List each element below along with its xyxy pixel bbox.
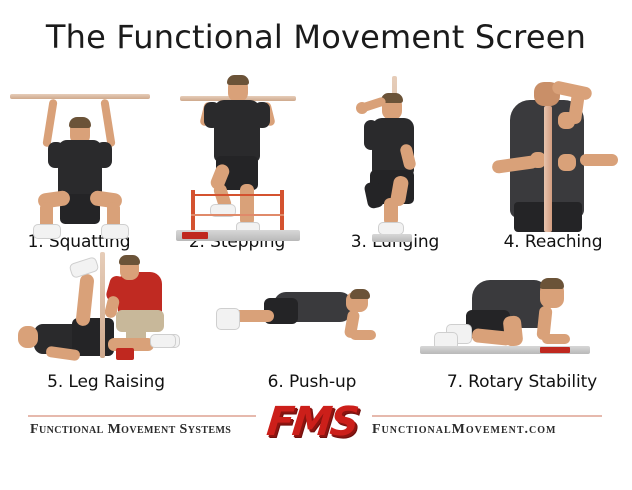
screens-row-bottom: 5. Leg Raising 6. Push-up bbox=[0, 252, 632, 392]
screen-label: 5. Leg Raising bbox=[47, 372, 165, 392]
rotary-stability-photo bbox=[412, 252, 632, 370]
footer-website[interactable]: FunctionalMovement.com bbox=[372, 422, 557, 438]
screen-item-rotary-stability: 7. Rotary Stability bbox=[412, 252, 632, 392]
active-straight-leg-raise-photo bbox=[0, 252, 212, 370]
trunk-stability-pushup-photo bbox=[212, 252, 412, 370]
screen-label: 6. Push-up bbox=[268, 372, 357, 392]
deep-squat-photo bbox=[0, 72, 158, 230]
screen-label: 4. Reaching bbox=[504, 232, 603, 252]
screen-item-lunging: 3. Lunging bbox=[316, 72, 474, 252]
shoulder-mobility-photo bbox=[474, 72, 632, 230]
inline-lunge-photo bbox=[316, 72, 474, 230]
screen-item-squatting: 1. Squatting bbox=[0, 72, 158, 252]
page-title: The Functional Movement Screen bbox=[0, 18, 632, 56]
screens-row-top: 1. Squatting bbox=[0, 72, 632, 252]
footer-company-name: Functional Movement Systems bbox=[30, 422, 231, 438]
screen-item-leg-raising: 5. Leg Raising bbox=[0, 252, 212, 392]
screen-item-reaching: 4. Reaching bbox=[474, 72, 632, 252]
hurdle-step-photo bbox=[158, 72, 316, 230]
screen-item-pushup: 6. Push-up bbox=[212, 252, 412, 392]
screen-label: 7. Rotary Stability bbox=[447, 372, 597, 392]
fms-poster: The Functional Movement Screen bbox=[0, 0, 632, 490]
screen-item-stepping: 2. Stepping bbox=[158, 72, 316, 252]
footer-rule-right bbox=[372, 415, 602, 417]
footer-rule-left bbox=[28, 415, 256, 417]
fms-logo: FMS bbox=[255, 398, 368, 446]
